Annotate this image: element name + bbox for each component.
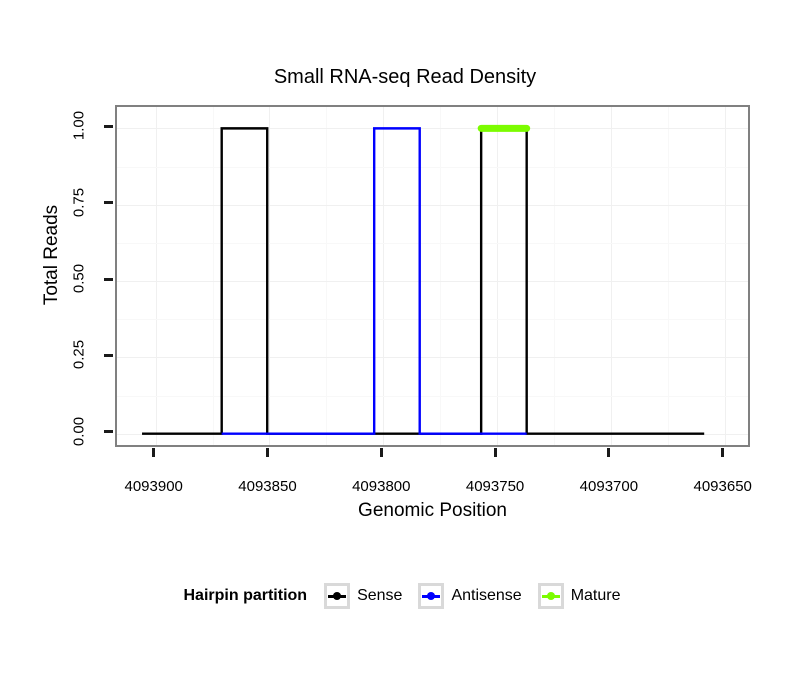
legend-key-dot (427, 592, 435, 600)
y-tick-label: 0.75 (71, 181, 88, 223)
legend-key-swatch (538, 583, 564, 609)
y-tick (104, 354, 113, 357)
x-tick (494, 448, 497, 457)
legend-entry-label: Mature (571, 587, 621, 605)
legend-entry-mature[interactable]: Mature (538, 583, 621, 609)
x-tick-label: 4093800 (321, 478, 441, 495)
x-tick-label: 4093850 (207, 478, 327, 495)
legend-key-dot (333, 592, 341, 600)
plot-area (117, 107, 748, 445)
legend-key-dot (547, 592, 555, 600)
y-tick (104, 430, 113, 433)
y-tick (104, 125, 113, 128)
x-tick-label: 4093900 (94, 478, 214, 495)
y-axis-title: Total Reads (41, 155, 63, 355)
chart-legend: Hairpin partition SenseAntisenseMature (0, 583, 810, 609)
y-tick-label: 0.25 (71, 334, 88, 376)
legend-title: Hairpin partition (184, 587, 308, 605)
x-tick-label: 4093750 (435, 478, 555, 495)
y-tick (104, 278, 113, 281)
x-tick-label: 4093700 (549, 478, 669, 495)
y-tick (104, 201, 113, 204)
x-tick (266, 448, 269, 457)
y-tick-label: 1.00 (71, 105, 88, 147)
x-tick (152, 448, 155, 457)
legend-entry-label: Antisense (451, 587, 521, 605)
legend-entry-sense[interactable]: Sense (324, 583, 402, 609)
legend-entry-label: Sense (357, 587, 402, 605)
y-tick-label: 0.00 (71, 410, 88, 452)
legend-entry-antisense[interactable]: Antisense (418, 583, 521, 609)
legend-key-swatch (418, 583, 444, 609)
chart-figure: Small RNA-seq Read Density Total Reads 4… (0, 0, 810, 690)
series-line-sense (142, 128, 704, 433)
x-axis-title: Genomic Position (115, 500, 750, 522)
chart-title: Small RNA-seq Read Density (0, 66, 810, 89)
plot-panel (115, 105, 750, 447)
y-tick-label: 0.50 (71, 258, 88, 300)
series-layer (117, 107, 750, 447)
x-tick (607, 448, 610, 457)
x-tick (380, 448, 383, 457)
x-tick-label: 4093650 (663, 478, 783, 495)
legend-key-swatch (324, 583, 350, 609)
x-tick (721, 448, 724, 457)
